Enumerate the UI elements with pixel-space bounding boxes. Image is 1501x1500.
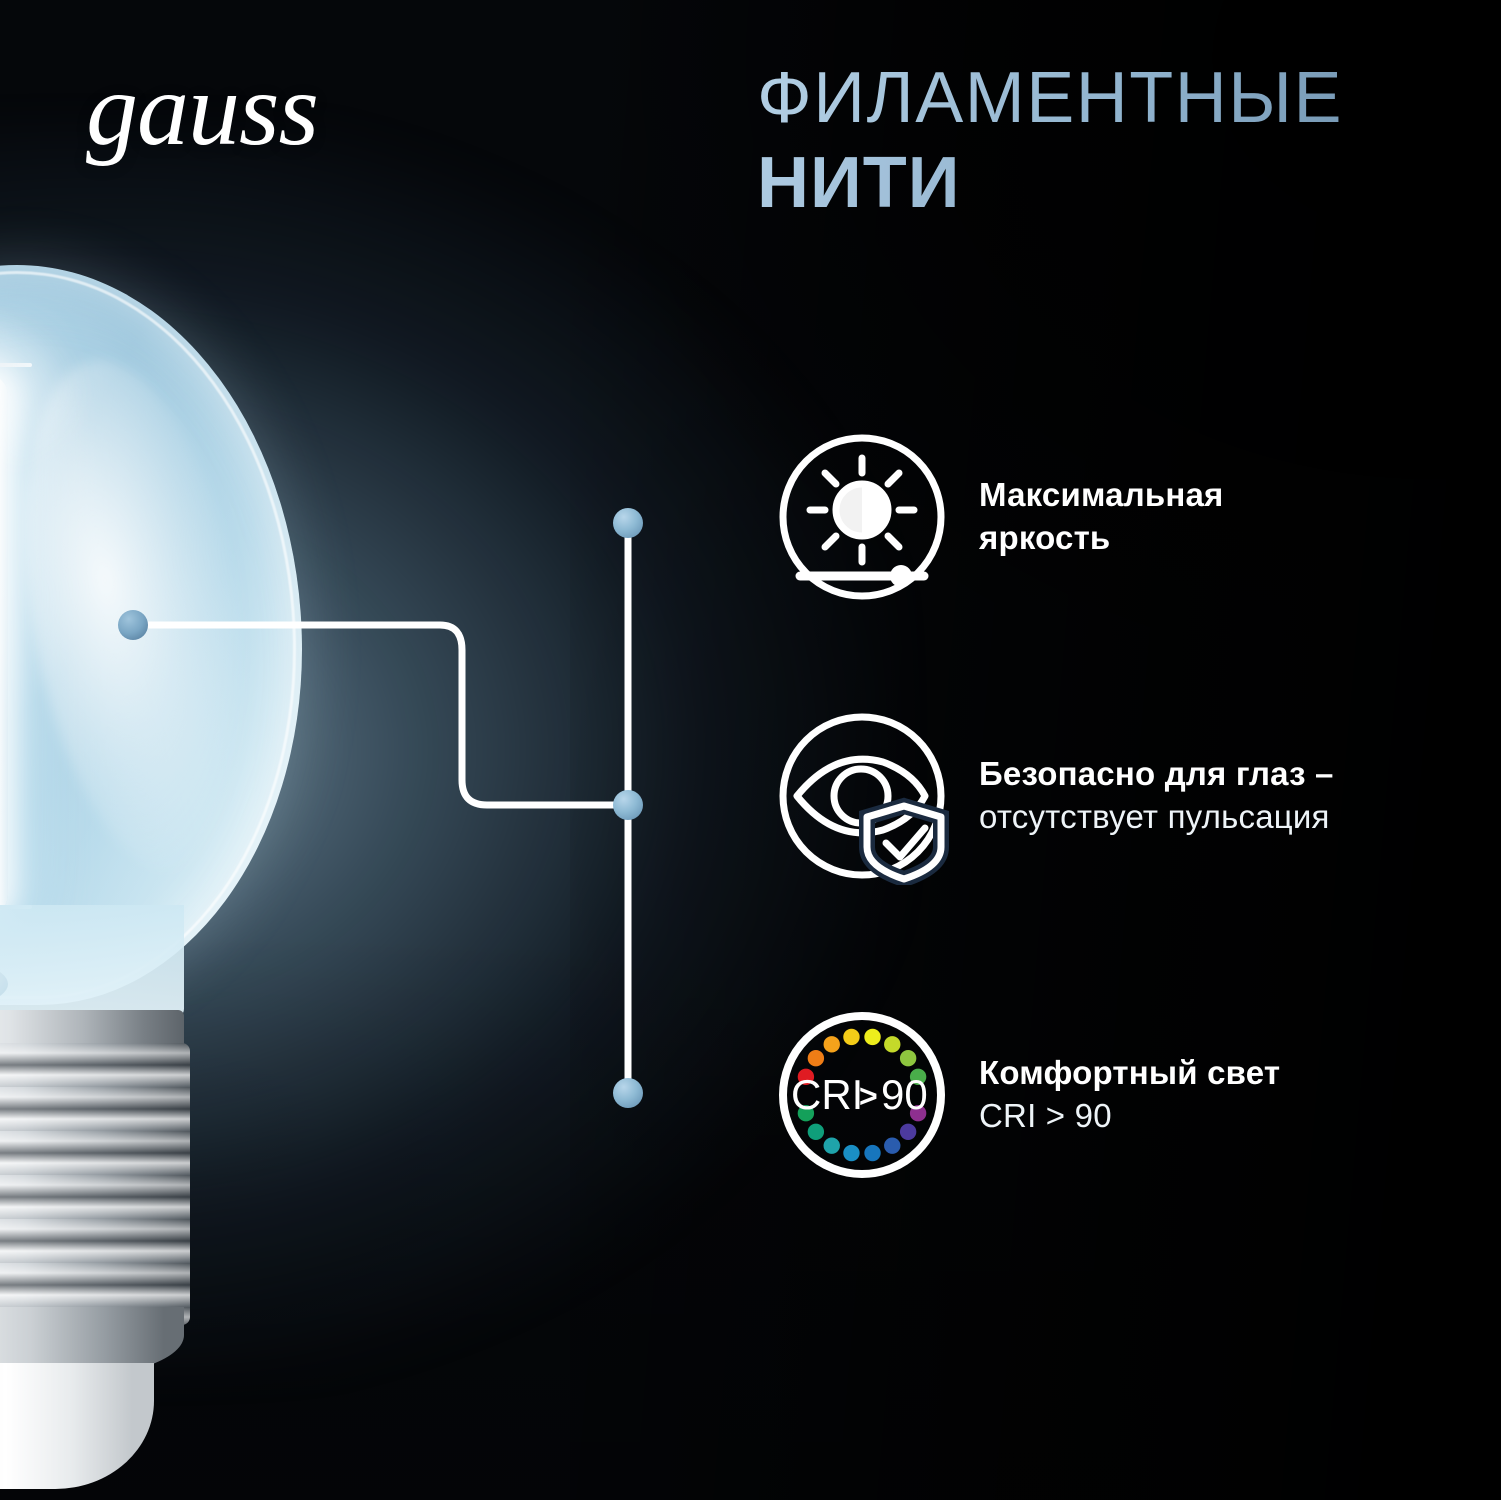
feature-text-block: Комфортный свет CRI > 90 (979, 1052, 1280, 1138)
cri-value: 90 (881, 1071, 928, 1118)
feature-max-brightness: Максимальная яркость (773, 428, 1224, 606)
feature-comfort-light: CRI > 90 Комфортный свет CRI > 90 (773, 1006, 1280, 1184)
headline-line-1: ФИЛАМЕНТНЫЕ (757, 62, 1457, 135)
feature-eye-safe: Безопасно для глаз – отсутствует пульсац… (773, 707, 1334, 885)
cri-color-dot (843, 1029, 859, 1045)
callout-node-middle (613, 790, 643, 820)
callout-node-top (613, 508, 643, 538)
headline: ФИЛАМЕНТНЫЕ НИТИ (757, 62, 1457, 221)
cri-color-dot (900, 1124, 916, 1140)
cri-color-wheel-icon: CRI > 90 (773, 1006, 951, 1184)
feature-title: Комфортный свет (979, 1052, 1280, 1095)
cri-color-dot (843, 1145, 859, 1161)
cri-color-dot (824, 1036, 840, 1052)
bulb-e27-screw-thread (0, 1043, 190, 1325)
promo-banner: gauss ФИЛАМЕНТНЫЕ НИТИ (0, 0, 1501, 1500)
cri-color-dot (900, 1050, 916, 1066)
brightness-sun-slider-icon (773, 428, 951, 606)
feature-text-block: Максимальная яркость (979, 474, 1224, 560)
cri-operator: > (859, 1078, 878, 1114)
cri-label: CRI (791, 1071, 863, 1118)
led-filament-bulb-image (0, 265, 302, 1500)
feature-title: Максимальная (979, 474, 1224, 517)
feature-text-block: Безопасно для глаз – отсутствует пульсац… (979, 753, 1334, 839)
cri-color-dot (824, 1137, 840, 1153)
feature-subtitle: отсутствует пульсация (979, 796, 1334, 839)
cri-color-dot (884, 1137, 900, 1153)
feature-subtitle: CRI > 90 (979, 1095, 1280, 1138)
callout-node-on-filament (118, 610, 148, 640)
eye-shield-check-icon (773, 707, 951, 885)
callout-node-bottom (613, 1078, 643, 1108)
cri-color-dot (808, 1050, 824, 1066)
cri-color-dot (884, 1036, 900, 1052)
feature-subtitle: яркость (979, 517, 1224, 560)
cri-color-dot (864, 1145, 880, 1161)
cri-color-dot (808, 1124, 824, 1140)
feature-title: Безопасно для глаз – (979, 753, 1334, 796)
brand-logo: gauss (86, 58, 318, 162)
cri-color-dot (864, 1029, 880, 1045)
bulb-base-insulator-tip (0, 1363, 154, 1489)
headline-line-2: НИТИ (757, 147, 1457, 220)
